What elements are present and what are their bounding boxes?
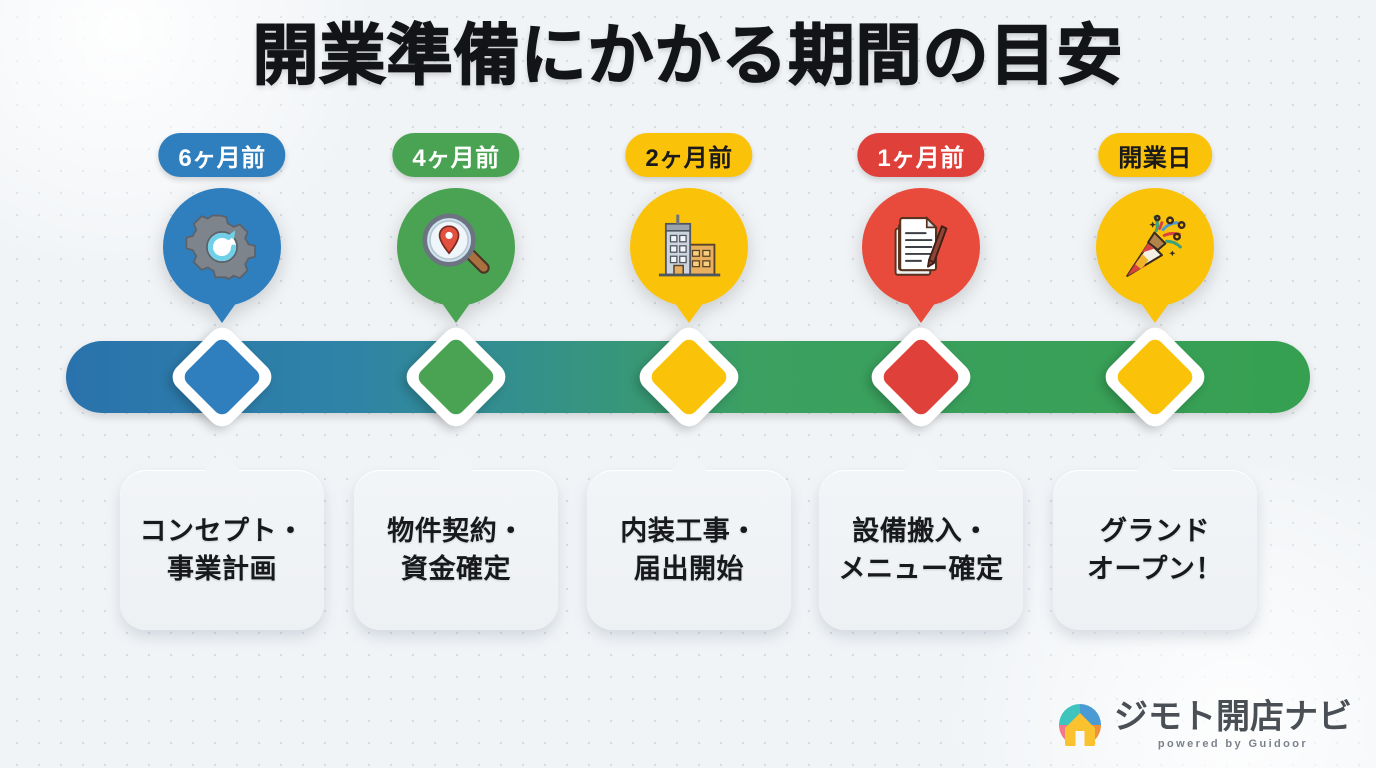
step-badge-label-5: 開業日: [1118, 138, 1192, 173]
timeline-step-3: 2ヶ月前: [589, 0, 789, 768]
step-card-line2-4: メニュー確定: [839, 550, 1004, 588]
step-diamond-4: [866, 322, 976, 432]
step-card-1: コンセプト・ 事業計画: [120, 470, 324, 630]
step-pin-4: [862, 188, 980, 306]
timeline-step-2: 4ヶ月前 物件契約・ 資金確定: [356, 0, 556, 768]
brand-logo-text: ジモト開店ナビ powered by Guidoor: [1114, 700, 1352, 750]
step-card-line1-2: 物件契約・: [387, 512, 525, 550]
step-card-5: グランド オープン！: [1053, 470, 1257, 630]
step-diamond-5: [1100, 322, 1210, 432]
step-card-line1-1: コンセプト・: [140, 512, 305, 550]
gear-refresh-icon: [185, 210, 259, 284]
step-card-2: 物件契約・ 資金確定: [354, 470, 558, 630]
step-diamond-2: [401, 322, 511, 432]
step-card-text-1: コンセプト・ 事業計画: [140, 512, 305, 589]
jimoto-kaiten-navi-logo-icon: [1056, 701, 1104, 749]
step-card-line2-5: オープン！: [1087, 550, 1223, 588]
step-card-text-4: 設備搬入・ メニュー確定: [839, 512, 1004, 589]
step-badge-5: 開業日: [1098, 133, 1212, 177]
step-card-text-5: グランド オープン！: [1087, 512, 1223, 589]
step-diamond-3: [634, 322, 744, 432]
step-card-line1-4: 設備搬入・: [839, 512, 1004, 550]
timeline-step-5: 開業日: [1055, 0, 1255, 768]
step-badge-label-4: 1ヶ月前: [877, 138, 964, 173]
step-badge-3: 2ヶ月前: [625, 133, 752, 177]
step-diamond-1: [167, 322, 277, 432]
step-card-line2-2: 資金確定: [387, 550, 525, 588]
brand-name: ジモト開店ナビ: [1114, 700, 1352, 734]
buildings-icon: [652, 210, 726, 284]
step-card-text-2: 物件契約・ 資金確定: [387, 512, 525, 589]
step-badge-label-1: 6ヶ月前: [178, 138, 265, 173]
step-badge-4: 1ヶ月前: [857, 133, 984, 177]
step-card-line2-1: 事業計画: [140, 550, 305, 588]
brand-tagline: powered by Guidoor: [1158, 738, 1308, 750]
step-badge-label-3: 2ヶ月前: [645, 138, 732, 173]
step-card-line1-3: 内装工事・: [620, 512, 758, 550]
magnifier-map-pin-icon: [419, 210, 493, 284]
step-card-text-3: 内装工事・ 届出開始: [620, 512, 758, 589]
step-pin-2: [397, 188, 515, 306]
step-pin-3: [630, 188, 748, 306]
brand-logo: ジモト開店ナビ powered by Guidoor: [1056, 700, 1352, 750]
step-badge-1: 6ヶ月前: [158, 133, 285, 177]
timeline-step-1: 6ヶ月前 コンセプト・ 事業計画: [122, 0, 322, 768]
step-badge-2: 4ヶ月前: [392, 133, 519, 177]
timeline-step-4: 1ヶ月前 設備搬入・ メニュー確定: [821, 0, 1021, 768]
party-popper-icon: [1118, 210, 1192, 284]
documents-pen-icon: [884, 210, 958, 284]
step-badge-label-2: 4ヶ月前: [412, 138, 499, 173]
infographic-stage: 開業準備にかかる期間の目安 6ヶ月前 コンセプト・ 事業計画 4ヶ月前: [0, 0, 1376, 768]
step-card-line2-3: 届出開始: [620, 550, 758, 588]
step-card-line1-5: グランド: [1087, 512, 1223, 550]
step-pin-1: [163, 188, 281, 306]
step-card-4: 設備搬入・ メニュー確定: [819, 470, 1023, 630]
step-pin-5: [1096, 188, 1214, 306]
step-card-3: 内装工事・ 届出開始: [587, 470, 791, 630]
